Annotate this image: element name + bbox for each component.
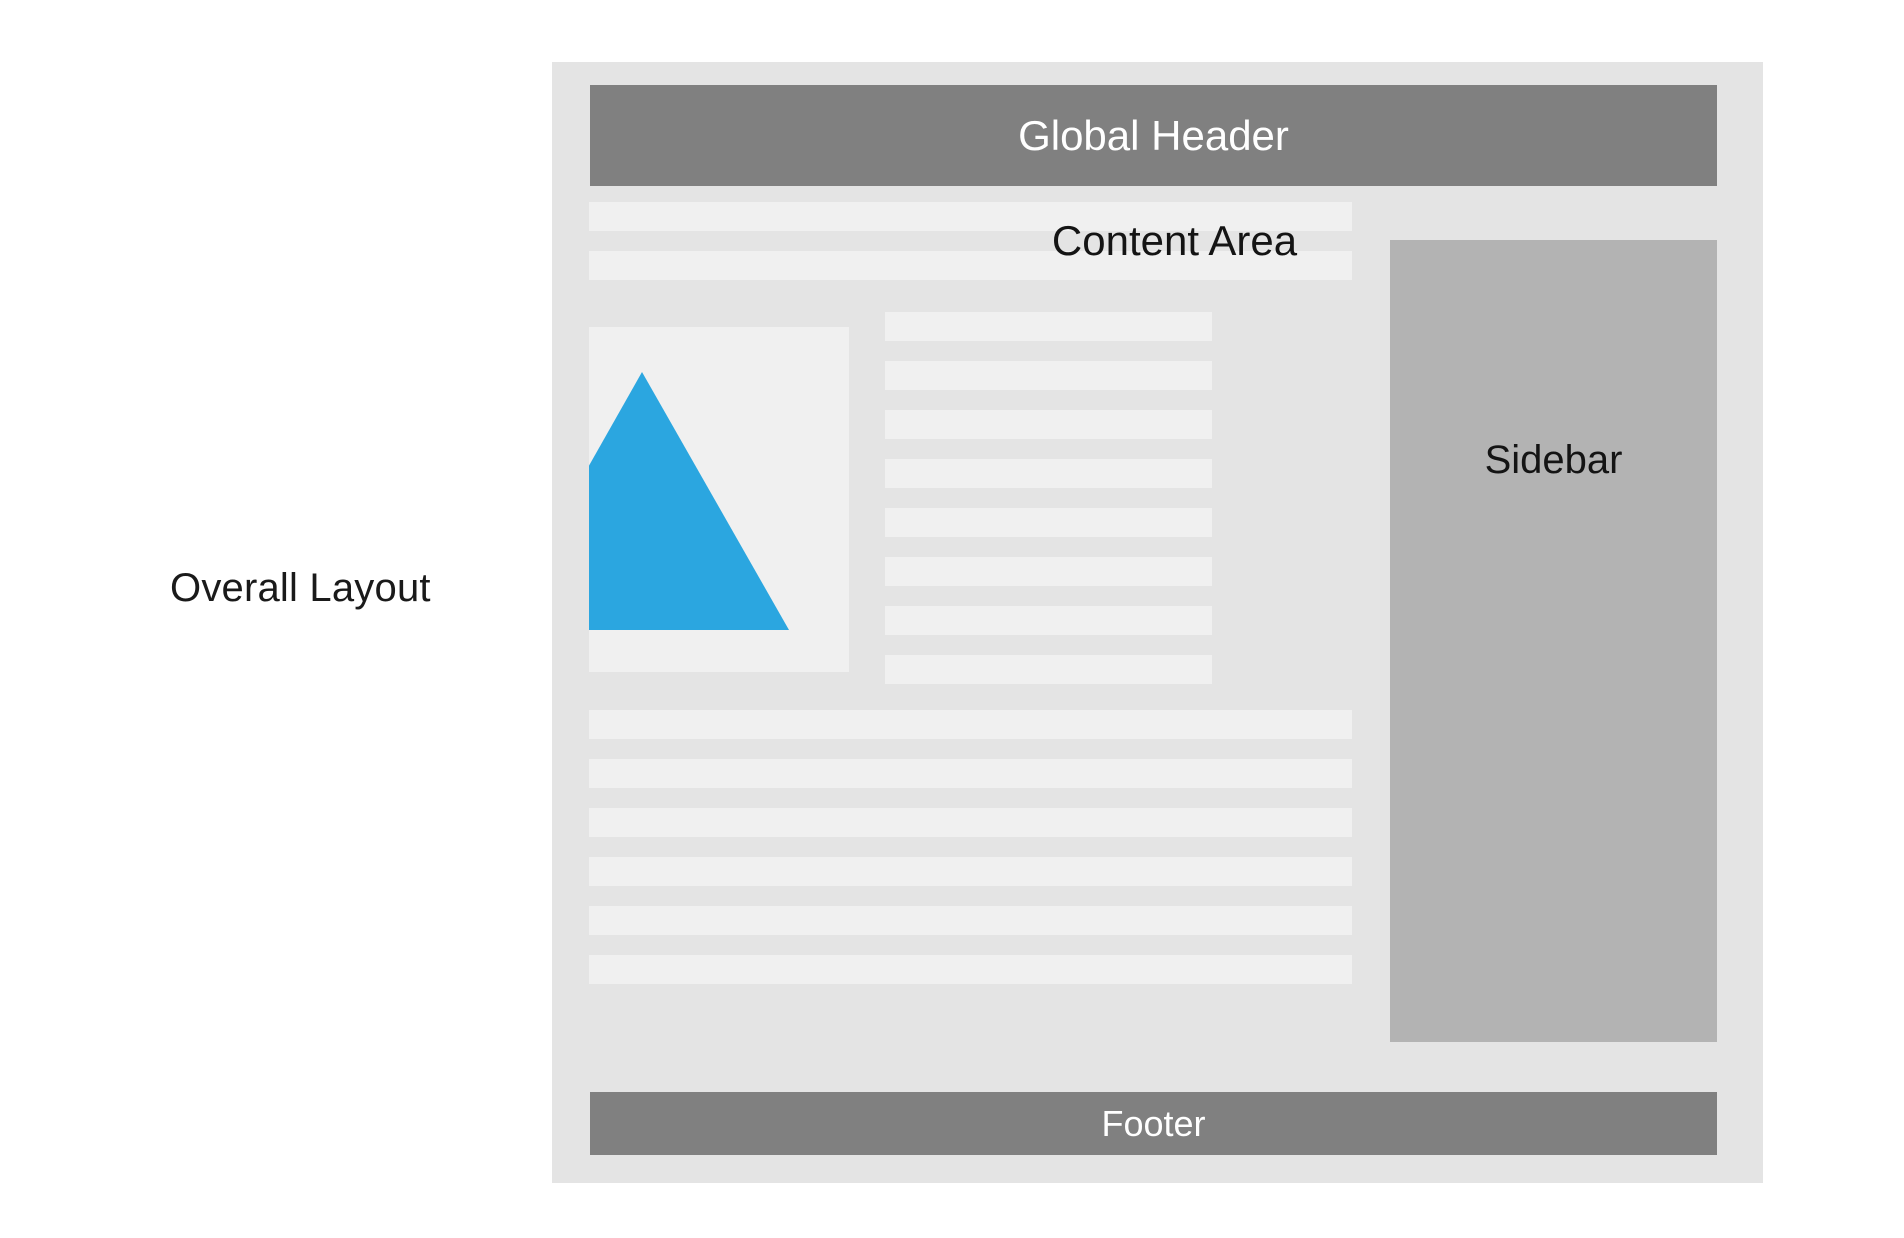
text-bar <box>885 508 1212 537</box>
global-footer-label: Footer <box>1101 1103 1205 1145</box>
text-bar <box>885 410 1212 439</box>
global-footer: Footer <box>590 1092 1717 1155</box>
content-area <box>589 202 1352 1037</box>
content-middle-text-column <box>885 307 1212 697</box>
text-bar <box>589 955 1352 984</box>
text-bar <box>589 857 1352 886</box>
text-bar <box>885 361 1212 390</box>
body-region: Sidebar Content Area <box>552 62 1763 1183</box>
text-bar <box>589 202 1352 231</box>
text-bar <box>885 557 1212 586</box>
text-bar <box>885 459 1212 488</box>
content-bottom-text-block <box>589 710 1352 1010</box>
page-frame: Global Header <box>552 62 1763 1183</box>
text-bar <box>589 710 1352 739</box>
content-middle-row <box>589 327 1352 672</box>
sidebar: Sidebar <box>1390 240 1717 1042</box>
text-bar <box>885 606 1212 635</box>
text-bar <box>885 655 1212 684</box>
diagram-caption: Overall Layout <box>170 566 510 611</box>
triangle-icon <box>589 327 849 672</box>
text-bar <box>885 312 1212 341</box>
text-bar <box>589 906 1352 935</box>
text-bar <box>589 808 1352 837</box>
image-placeholder <box>589 327 849 672</box>
text-bar <box>589 759 1352 788</box>
sidebar-label: Sidebar <box>1485 438 1623 483</box>
text-bar <box>589 251 1352 280</box>
